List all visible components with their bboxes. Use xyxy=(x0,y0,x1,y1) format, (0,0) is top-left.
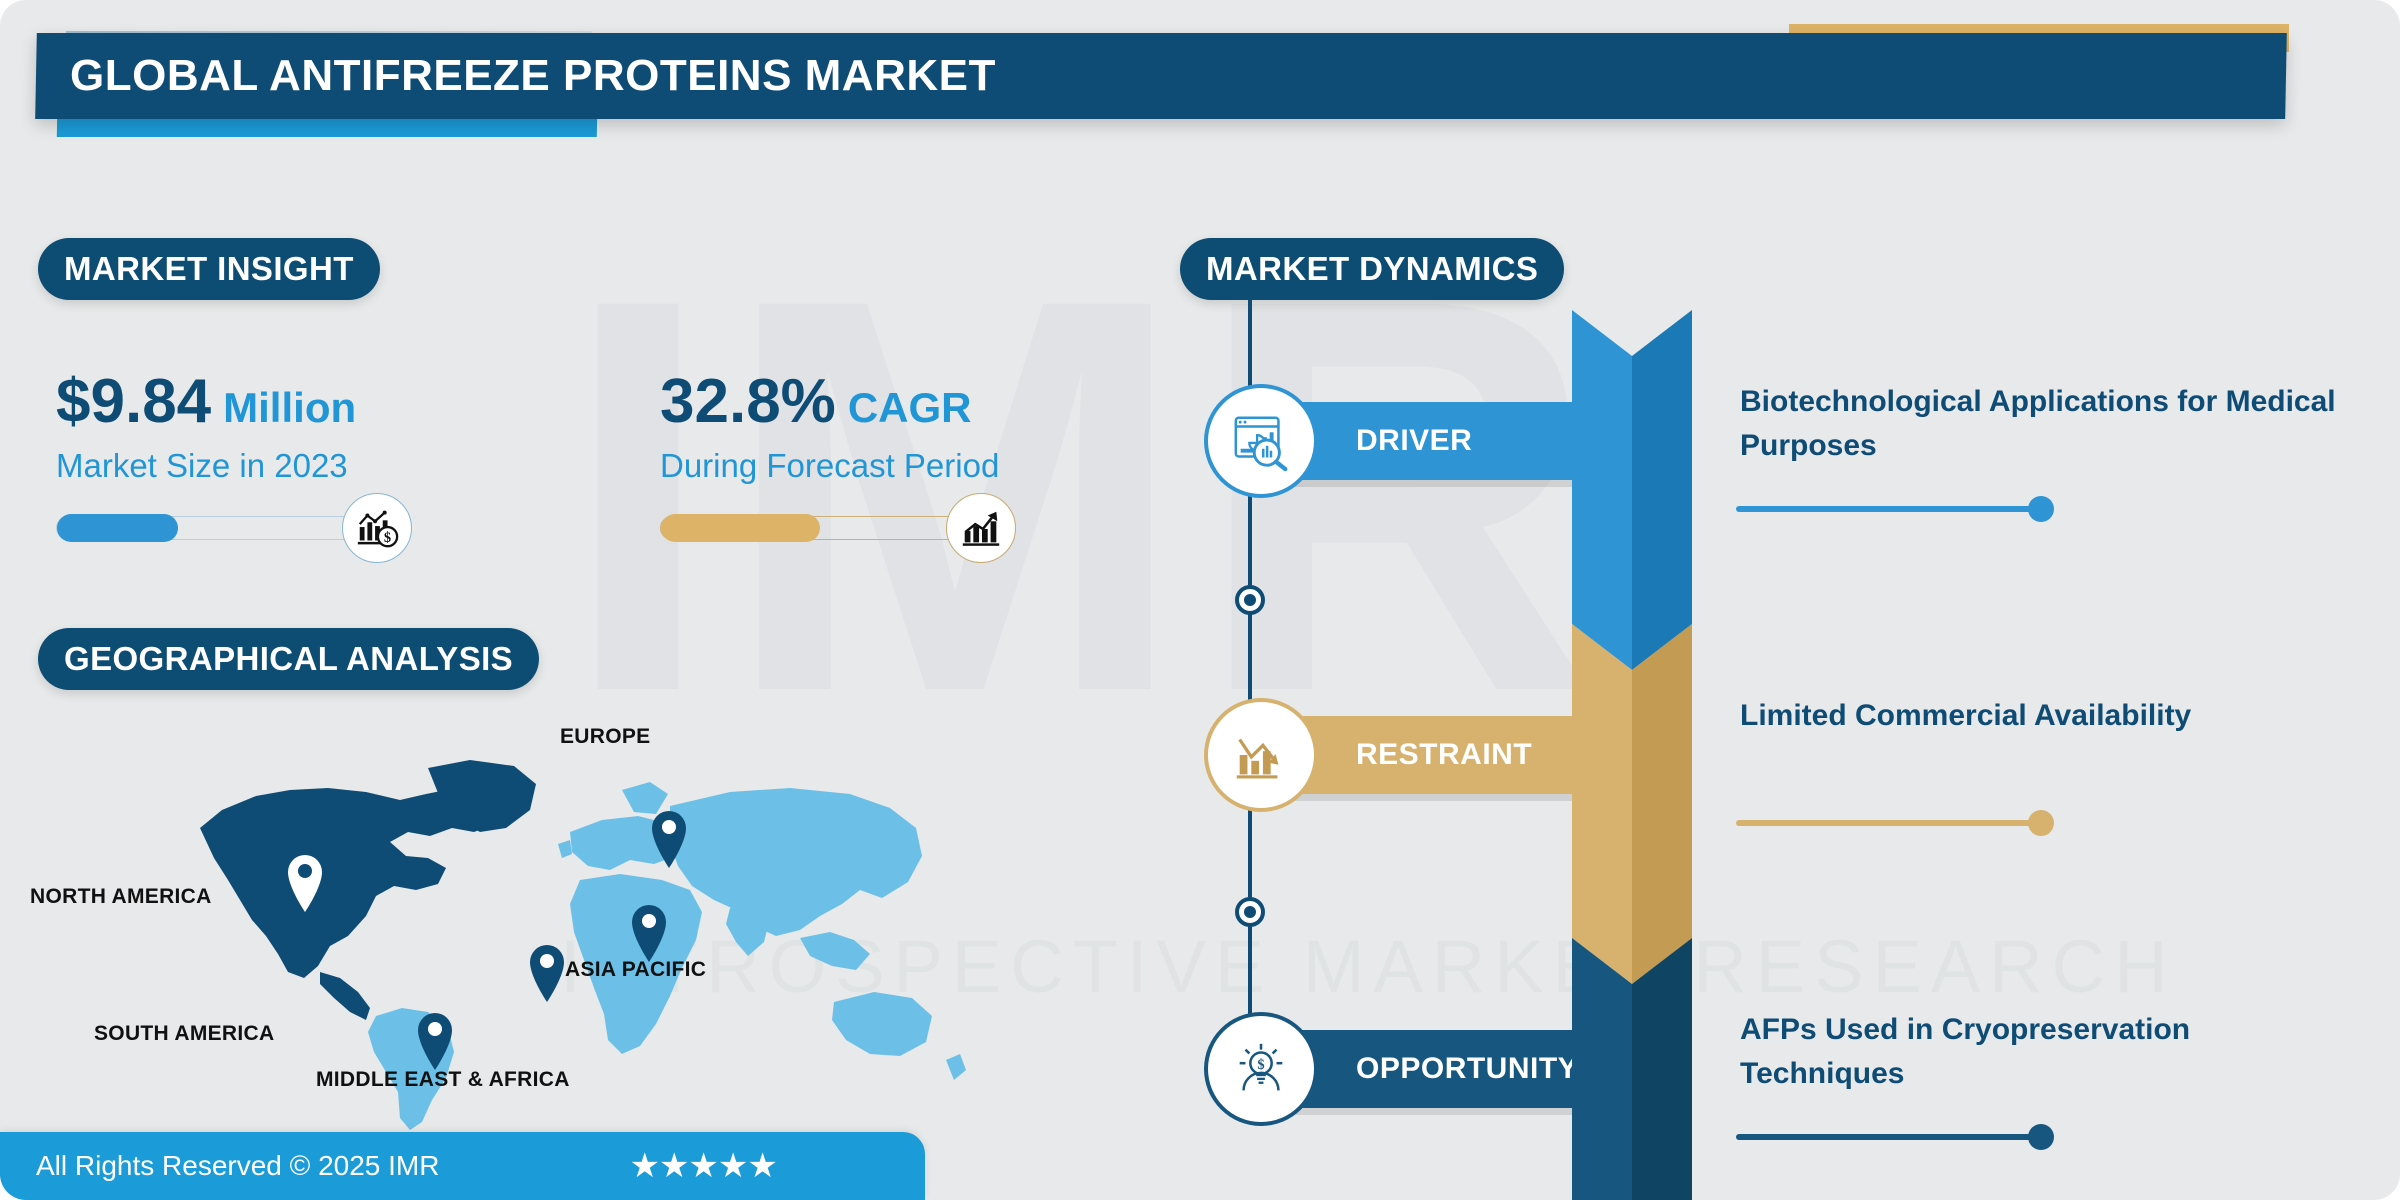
driver-band-shadow xyxy=(1248,480,1608,487)
svg-text:$: $ xyxy=(384,530,391,546)
map-label-middle-east-africa: MIDDLE EAST & AFRICA xyxy=(316,1068,570,1092)
world-map-svg xyxy=(170,740,1010,1130)
timeline-node-2 xyxy=(1235,897,1265,927)
map-region-india xyxy=(726,904,770,956)
footer-star-rating: ★★★★★ xyxy=(629,1146,776,1186)
kpi-cagr-unit: CAGR xyxy=(848,384,972,432)
header-bar: GLOBAL ANTIFREEZE PROTEINS MARKET xyxy=(35,33,2287,119)
infographic-canvas: IMR INTROSPECTIVE MARKET RESEARCH GLOBAL… xyxy=(0,0,2400,1200)
map-label-north-america: NORTH AMERICA xyxy=(30,885,212,909)
driver-text: Biotechnological Applications for Medica… xyxy=(1740,380,2360,467)
restraint-chevron xyxy=(1572,624,1692,989)
footer-copyright: All Rights Reserved © 2025 IMR xyxy=(36,1150,439,1182)
opportunity-band-shadow xyxy=(1248,1108,1608,1115)
footer-bar: All Rights Reserved © 2025 IMR ★★★★★ xyxy=(0,1132,925,1200)
market-insight-heading: MARKET INSIGHT xyxy=(38,238,380,300)
map-region-central-america xyxy=(320,972,370,1020)
restraint-label: RESTRAINT xyxy=(1356,738,1532,772)
map-region-southeast-asia xyxy=(800,932,870,970)
progress-fill xyxy=(661,514,820,542)
progress-fill xyxy=(57,514,178,542)
driver-chevron xyxy=(1572,310,1692,675)
timeline-node-1 xyxy=(1235,585,1265,615)
driver-rule xyxy=(1736,506,2038,512)
kpi-cagr-value: 32.8% xyxy=(660,370,836,433)
map-label-south-america: SOUTH AMERICA xyxy=(94,1022,274,1046)
map-label-europe: EUROPE xyxy=(560,725,651,749)
kpi-cagr-progress xyxy=(660,511,990,545)
map-region-australia xyxy=(832,992,932,1056)
kpi-cagr-label: During Forecast Period xyxy=(660,447,999,485)
growth-arrow-chart-icon xyxy=(946,493,1016,563)
kpi-cagr: 32.8% CAGR During Forecast Period xyxy=(660,370,999,545)
restraint-band-shadow xyxy=(1248,794,1608,801)
geographical-analysis-heading: GEOGRAPHICAL ANALYSIS xyxy=(38,628,539,690)
declining-bar-chart-icon xyxy=(1208,702,1314,808)
svg-text:$: $ xyxy=(1257,1057,1264,1073)
map-region-new-zealand xyxy=(946,1054,966,1080)
restraint-text: Limited Commercial Availability xyxy=(1740,694,2360,738)
map-region-scandinavia xyxy=(622,782,668,814)
world-map: NORTH AMERICA EUROPE ASIA PACIFIC SOUTH … xyxy=(170,740,1010,1130)
kpi-market-size-value: $9.84 xyxy=(56,370,211,433)
opportunity-rule xyxy=(1736,1134,2038,1140)
kpi-market-size: $9.84 Million Market Size in 2023 $ xyxy=(56,370,386,545)
driver-end-dot xyxy=(2028,496,2054,522)
restraint-rule xyxy=(1736,820,2038,826)
map-region-asia xyxy=(670,788,922,936)
opportunity-text: AFPs Used in Cryopreservation Techniques xyxy=(1740,1008,2360,1095)
map-label-asia-pacific: ASIA PACIFIC xyxy=(565,958,706,982)
driver-label: DRIVER xyxy=(1356,424,1472,458)
kpi-market-size-unit: Million xyxy=(223,384,356,432)
map-pin-middle-east-africa xyxy=(530,945,564,1002)
kpi-market-size-label: Market Size in 2023 xyxy=(56,447,386,485)
bar-chart-dollar-icon: $ xyxy=(342,493,412,563)
kpi-market-size-progress: $ xyxy=(56,511,386,545)
analytics-dashboard-search-icon xyxy=(1208,388,1314,494)
opportunity-end-dot xyxy=(2028,1124,2054,1150)
opportunity-chevron xyxy=(1572,938,1692,1200)
lightbulb-dollar-icon: $ xyxy=(1208,1016,1314,1122)
restraint-end-dot xyxy=(2028,810,2054,836)
map-region-uk xyxy=(558,840,572,858)
page-title: GLOBAL ANTIFREEZE PROTEINS MARKET xyxy=(36,33,2286,119)
map-continents xyxy=(200,760,966,1130)
opportunity-label: OPPORTUNITY xyxy=(1356,1052,1578,1086)
market-dynamics-heading: MARKET DYNAMICS xyxy=(1180,238,1564,300)
